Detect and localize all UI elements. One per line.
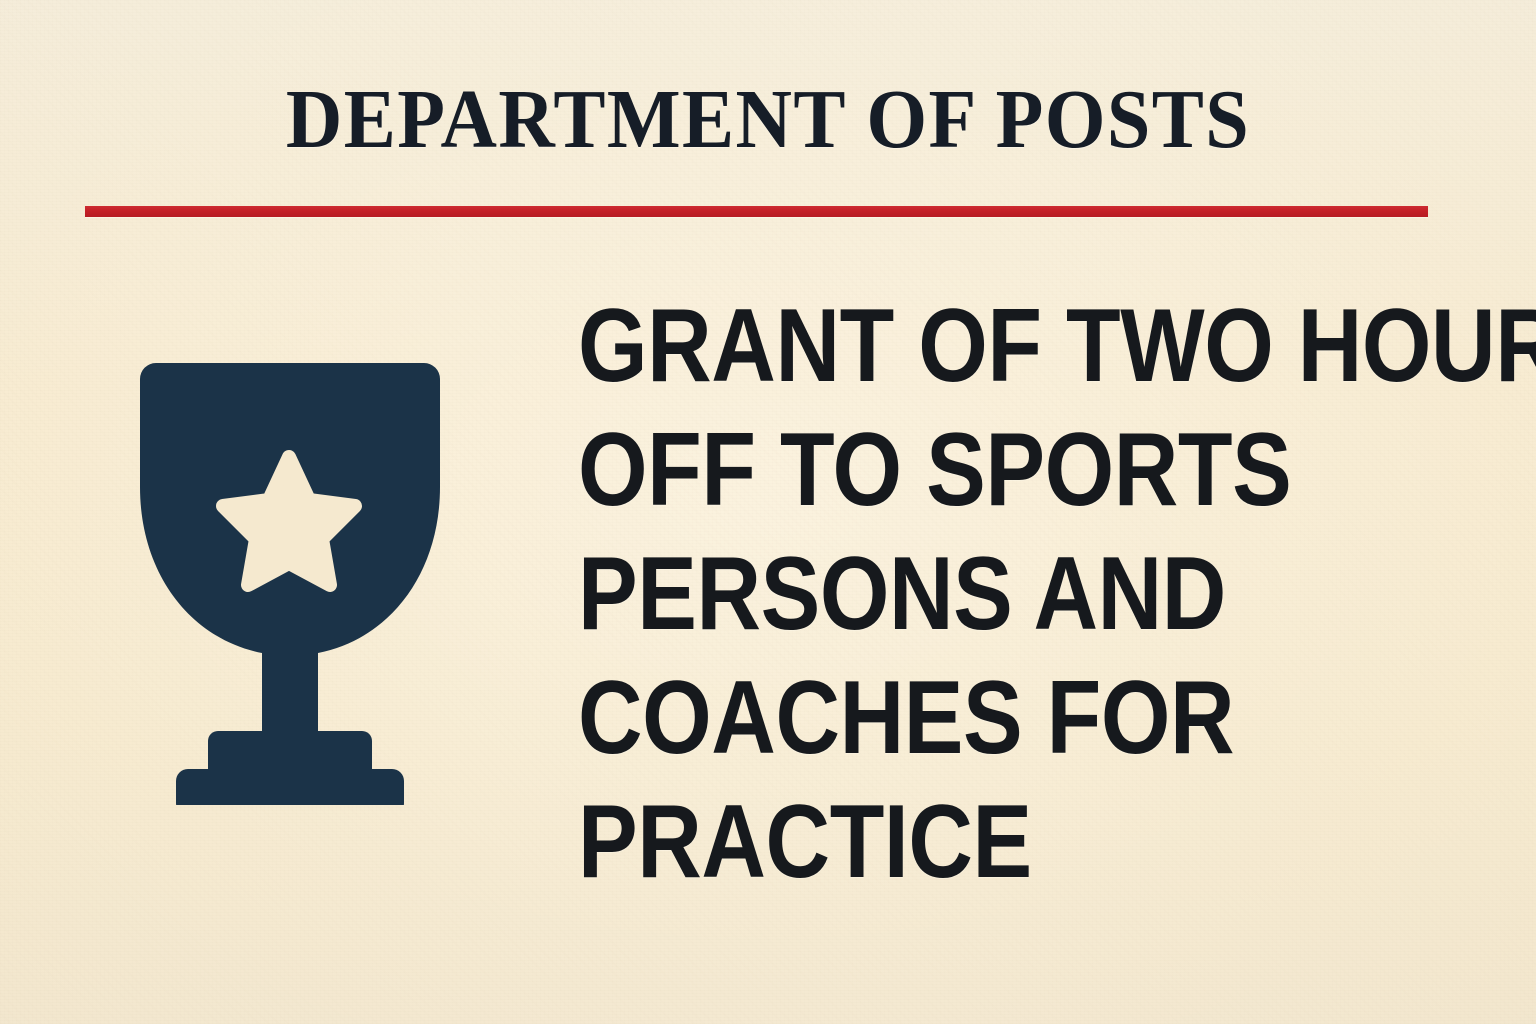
headline-line-2: OFF TO SPORTS — [578, 408, 1378, 532]
headline-block: GRANT OF TWO HOURS OFF TO SPORTS PERSONS… — [578, 284, 1508, 904]
masthead-divider-rule — [85, 206, 1428, 217]
headline-line-3: PERSONS AND — [578, 532, 1378, 656]
headline-line-4: COACHES FOR — [578, 656, 1378, 780]
trophy-icon — [70, 345, 510, 805]
content-area: GRANT OF TWO HOURS OFF TO SPORTS PERSONS… — [0, 250, 1536, 1024]
page-title: DEPARTMENT OF POSTS — [54, 78, 1482, 162]
masthead: DEPARTMENT OF POSTS — [0, 78, 1536, 162]
poster-canvas: DEPARTMENT OF POSTS — [0, 0, 1536, 1024]
headline-line-5: PRACTICE — [578, 780, 1378, 904]
headline-line-1: GRANT OF TWO HOURS — [578, 284, 1378, 408]
